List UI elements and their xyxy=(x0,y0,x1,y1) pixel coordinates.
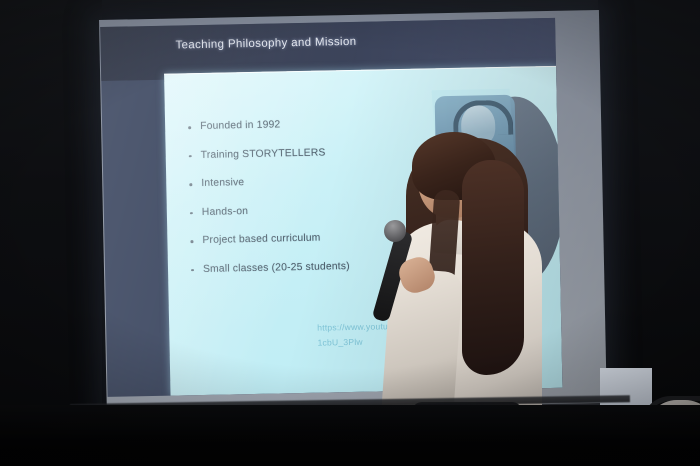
floor-dark-area xyxy=(0,405,700,466)
speaker-person xyxy=(378,120,563,420)
room-scene: Teaching Philosophy and Mission Founded … xyxy=(0,0,700,466)
wall-left-dark-area xyxy=(0,0,102,466)
speaker-hair-side xyxy=(462,160,524,375)
